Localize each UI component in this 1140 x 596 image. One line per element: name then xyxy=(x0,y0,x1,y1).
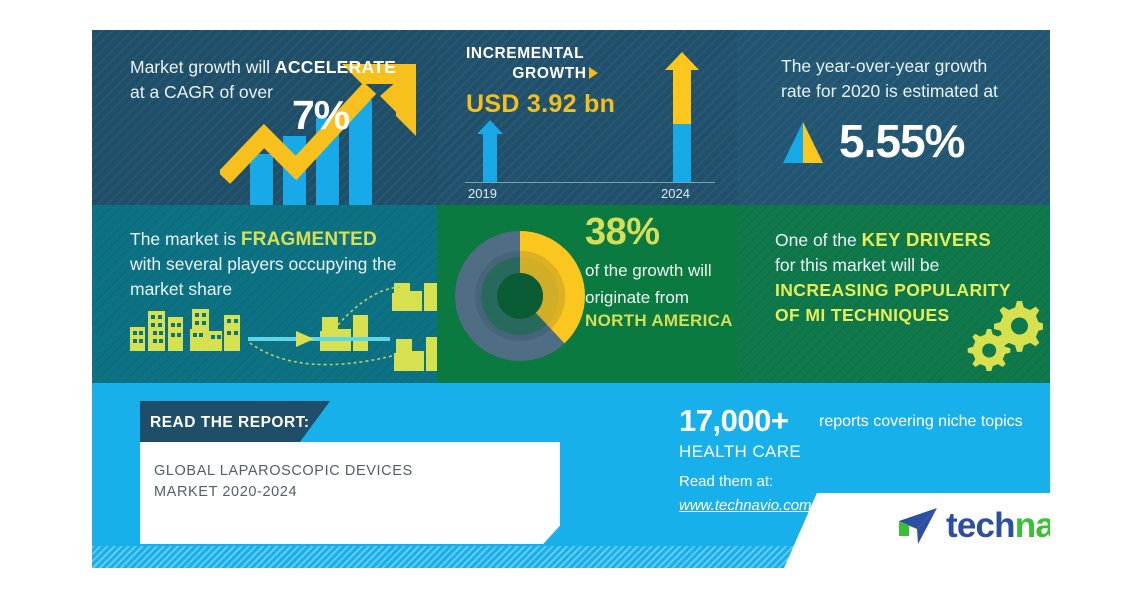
incremental-growth-title: INCREMENTAL GROWTH xyxy=(466,44,696,84)
accelerate-text: Market growth will ACCELERATE at a CAGR … xyxy=(130,55,430,105)
panel-key-drivers: One of the KEY DRIVERS for this market w… xyxy=(737,205,1050,383)
gears-icon xyxy=(967,299,1043,371)
incremental-growth-value: USD 3.92 bn xyxy=(466,90,615,119)
website-url-link[interactable]: www.technavio.com xyxy=(679,497,812,514)
drivers-line2: for this market will be xyxy=(775,255,939,275)
yoy-value-row: 5.55% xyxy=(781,118,964,164)
yoy-text: The year-over-year growth rate for 2020 … xyxy=(781,54,1046,104)
paper-plane-icon xyxy=(887,505,939,547)
yoy-line2: rate for 2020 is estimated at xyxy=(781,81,998,101)
read-the-report-label: READ THE REPORT: xyxy=(150,414,310,432)
incremental-title-line2: GROWTH xyxy=(512,65,586,82)
reports-count: 17,000+ xyxy=(679,403,788,439)
city-buildings-network-icon xyxy=(100,283,437,383)
na-line1: of the growth will xyxy=(585,261,712,280)
fragmented-line2: with several players occupying the xyxy=(130,254,397,274)
panel-incremental-growth: INCREMENTAL GROWTH USD 3.92 bn 2019 2024 xyxy=(437,30,737,205)
panel-footer: READ THE REPORT: GLOBAL LAPAROSCOPIC DEV… xyxy=(92,383,1050,568)
report-title-line1: GLOBAL LAPAROSCOPIC DEVICES xyxy=(154,463,413,479)
reports-count-subtitle: reports covering niche topics xyxy=(819,413,1023,431)
accelerate-line1-bold: ACCELERATE xyxy=(275,57,396,77)
drivers-line1-bold: KEY DRIVERS xyxy=(862,229,991,250)
fragmented-line1-plain: The market is xyxy=(130,229,241,249)
north-america-region: NORTH AMERICA xyxy=(585,311,733,331)
triangle-up-icon xyxy=(781,120,825,164)
accelerate-line1-plain: Market growth will xyxy=(130,57,275,77)
north-america-percentage: 38% xyxy=(585,211,660,254)
report-title: GLOBAL LAPAROSCOPIC DEVICES MARKET 2020-… xyxy=(154,461,514,503)
panel-yoy-growth: The year-over-year growth rate for 2020 … xyxy=(737,30,1050,205)
panel-north-america: 38% of the growth will originate from NO… xyxy=(437,205,737,383)
report-category: HEALTH CARE xyxy=(679,442,801,462)
bar-2024-icon xyxy=(665,52,699,182)
axis-label-2024: 2024 xyxy=(661,186,690,201)
chart-axis-line xyxy=(465,182,715,183)
cagr-value: 7% xyxy=(292,92,349,139)
panel-fragmented-market: The market is FRAGMENTED with several pl… xyxy=(92,205,437,383)
drivers-line1-plain: One of the xyxy=(775,230,862,250)
logo-text-tech: tech xyxy=(946,506,1015,545)
technavio-logo-text: technavio xyxy=(946,506,1050,546)
incremental-title-line1: INCREMENTAL xyxy=(466,45,584,62)
fragmented-line1-bold: FRAGMENTED xyxy=(241,229,377,250)
technavio-logo[interactable]: technavio xyxy=(887,505,1050,547)
drivers-highlight2: OF MI TECHNIQUES xyxy=(775,305,950,325)
yoy-line1: The year-over-year growth xyxy=(781,56,987,76)
read-them-at-label: Read them at: xyxy=(679,473,773,490)
north-america-text: of the growth will originate from xyxy=(585,257,737,311)
logo-text-navio: navio xyxy=(1015,506,1050,545)
yoy-value: 5.55% xyxy=(839,118,964,164)
infographic-root: Market growth will ACCELERATE at a CAGR … xyxy=(92,30,1050,568)
report-title-line2: MARKET 2020-2024 xyxy=(154,484,297,500)
accelerate-line2: at a CAGR of over xyxy=(130,82,273,102)
na-line2: originate from xyxy=(585,288,689,307)
donut-chart-icon xyxy=(455,231,585,361)
drivers-highlight1: INCREASING POPULARITY xyxy=(775,280,1011,300)
play-caret-icon xyxy=(589,67,598,79)
axis-label-2019: 2019 xyxy=(468,186,497,201)
bar-2019-icon xyxy=(477,120,503,182)
panel-market-growth: Market growth will ACCELERATE at a CAGR … xyxy=(92,30,437,205)
